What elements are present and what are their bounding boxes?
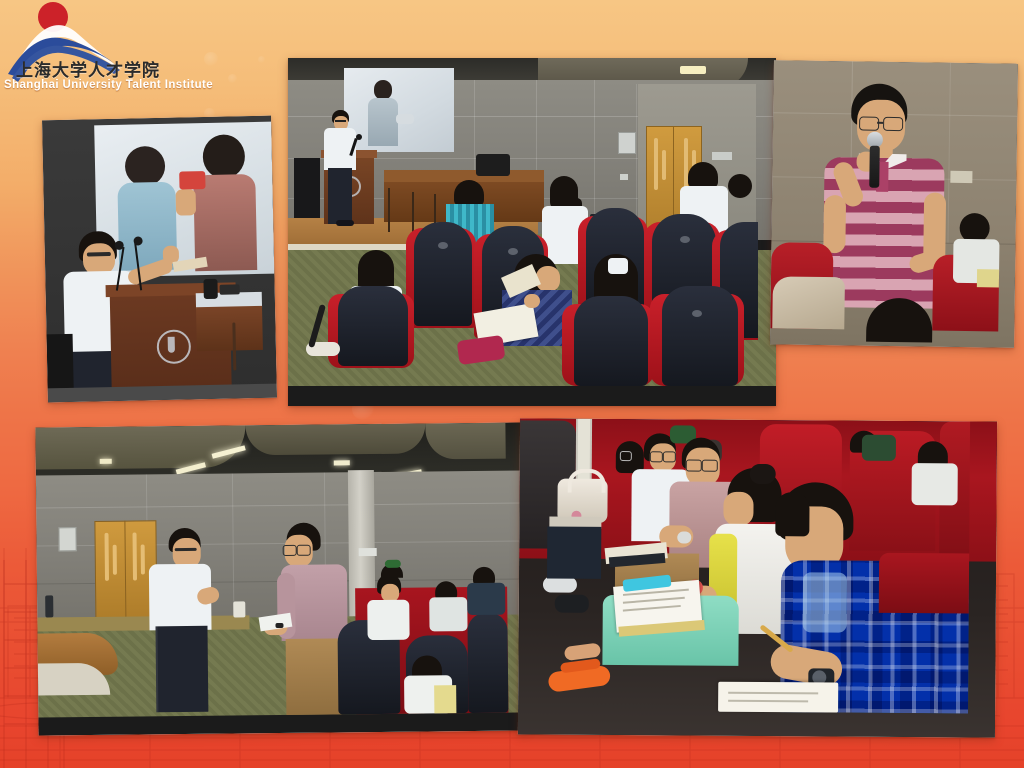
photo-discussion-after-talk[interactable] <box>35 422 526 735</box>
photo-discussion-after-talk-scene <box>35 422 526 735</box>
bokeh-circle <box>258 56 265 63</box>
photo-speaker-at-podium-scene <box>42 116 277 403</box>
bokeh-circle <box>204 52 218 66</box>
photo-audience-taking-notes-scene <box>518 418 997 737</box>
bokeh-circle <box>228 74 237 83</box>
photo-student-with-microphone-scene <box>770 60 1018 347</box>
photo-speaker-at-podium[interactable] <box>42 116 277 403</box>
shanghai-university-talent-institute-logo: 上海大学人才学院 Shanghai University Talent Inst… <box>2 0 202 100</box>
photo-audience-taking-notes[interactable] <box>518 418 997 737</box>
photo-lecture-hall-wide-scene <box>288 58 776 406</box>
logo-english-text: Shanghai University Talent Institute <box>4 79 213 91</box>
photo-lecture-hall-wide[interactable] <box>288 58 776 406</box>
logo-chinese-text: 上海大学人才学院 <box>16 56 160 81</box>
photo-student-with-microphone[interactable] <box>770 60 1018 347</box>
collage-canvas: 上海大学人才学院 Shanghai University Talent Inst… <box>0 0 1024 768</box>
